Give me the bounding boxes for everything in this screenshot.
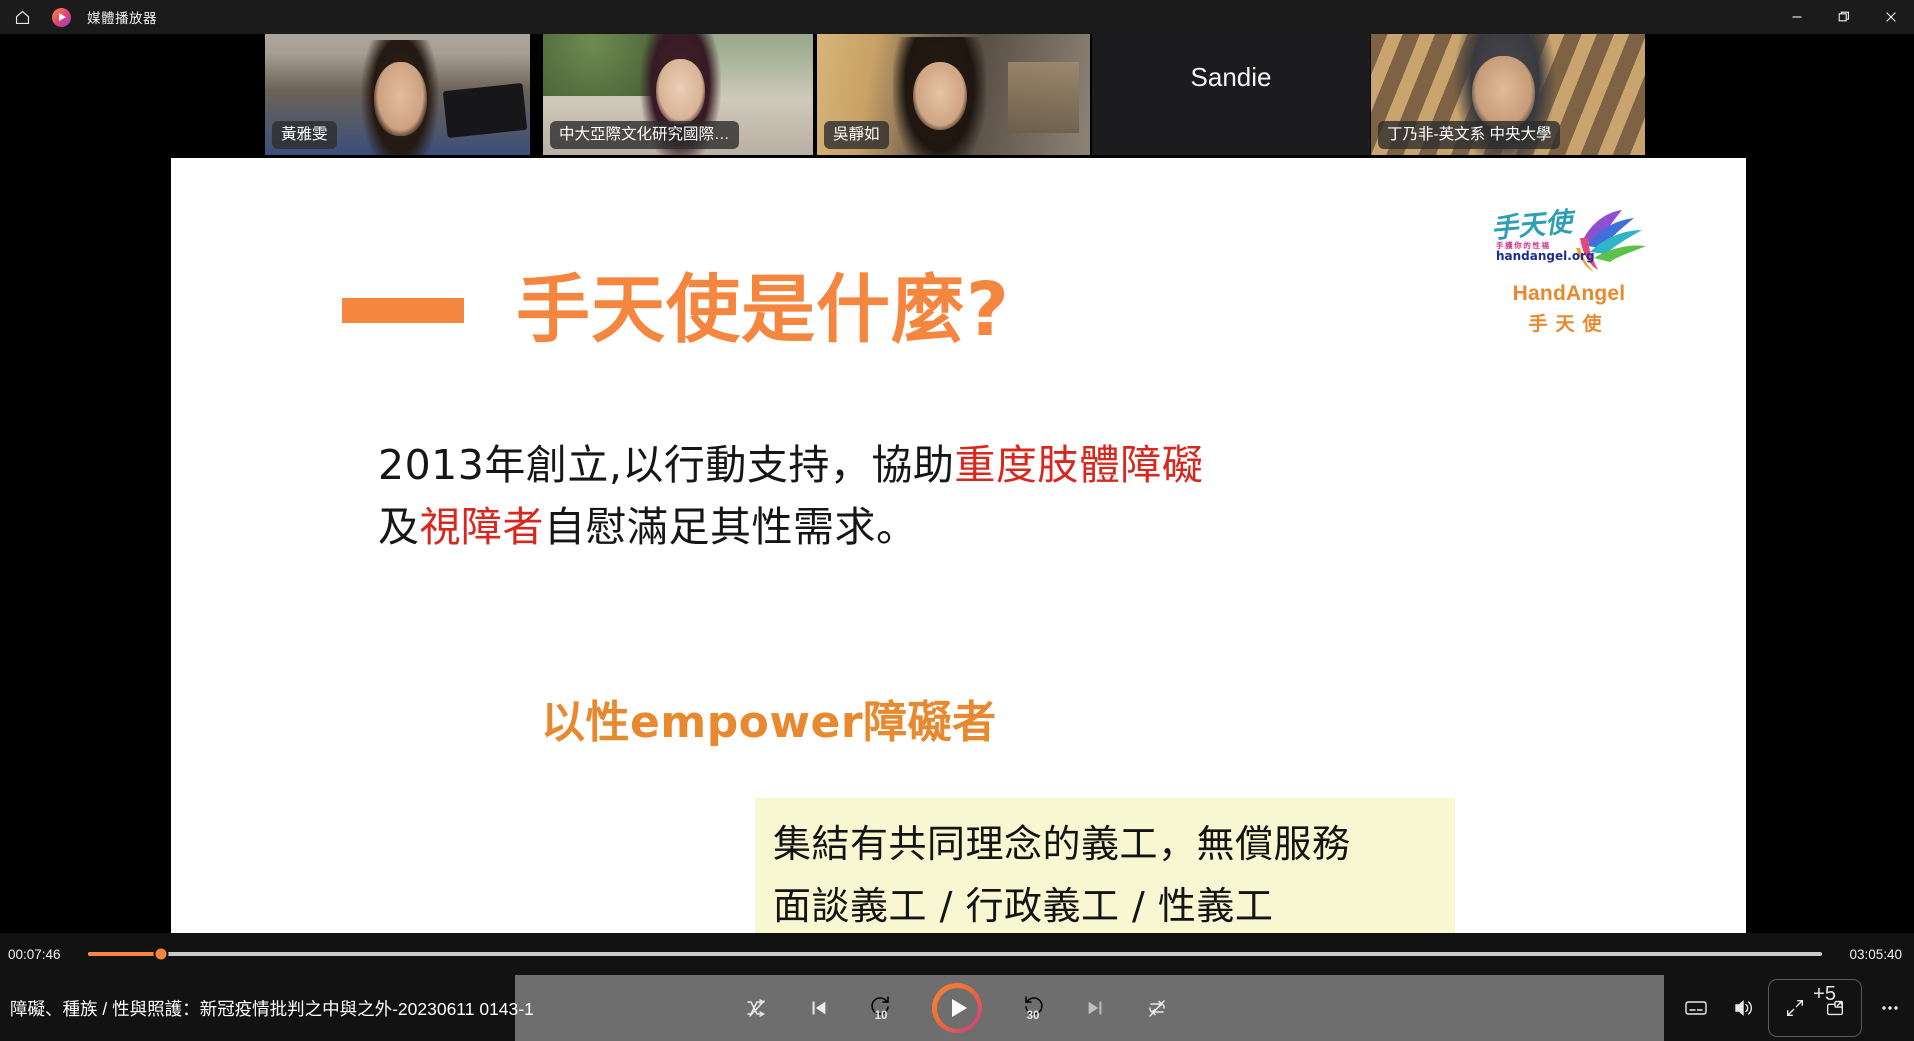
more-options-icon[interactable]: [1866, 975, 1914, 1041]
play-button[interactable]: [932, 983, 982, 1033]
volume-icon[interactable]: [1720, 975, 1768, 1041]
extra-participants-badge: +5: [1813, 983, 1836, 1006]
slide-title: 手天使是什麼?: [516, 273, 1010, 347]
forward-seconds-label: 30: [1027, 1010, 1040, 1022]
shuffle-off-icon[interactable]: [740, 991, 774, 1025]
participant-name-label: 黃雅雯: [272, 121, 337, 150]
total-time-label: 03:05:40: [1836, 947, 1902, 962]
wing-graphic-icon: 手天使 手護你的性福 handangel.org: [1484, 204, 1654, 276]
presentation-slide: 手天使 手護你的性福 handangel.org HandAngel 手天使 手…: [171, 158, 1746, 953]
body-line2-highlight: 視障者: [420, 503, 545, 551]
logo-calligraphy: 手天使: [1490, 207, 1578, 245]
body-line2-plain-b: 自慰滿足其性需求。: [544, 503, 918, 551]
forward-30-icon[interactable]: 30: [1016, 991, 1050, 1025]
previous-track-icon[interactable]: [802, 991, 836, 1025]
seek-thumb[interactable]: [153, 947, 168, 962]
participant-name-label: 吳靜如: [824, 121, 889, 150]
video-stage[interactable]: 手天使 手護你的性福 handangel.org HandAngel 手天使 手…: [0, 155, 1914, 1041]
close-button[interactable]: [1867, 0, 1914, 34]
body-line1-plain: 2013年創立,以行動支持，協助: [378, 441, 954, 489]
seek-progress-fill: [88, 952, 161, 956]
maximize-restore-button[interactable]: [1820, 0, 1867, 34]
view-mode-group: +5: [1768, 979, 1862, 1037]
participant-name-label: 丁乃非-英文系 中央大學: [1378, 121, 1560, 150]
repeat-off-icon[interactable]: [1140, 991, 1174, 1025]
body-line-1: 2013年創立,以行動支持，協助重度肢體障礙: [378, 434, 1558, 496]
playback-controls: 10 30: [740, 975, 1174, 1041]
now-playing-title-panel: 障礙、種族 / 性與照護：新冠疫情批判之中與之外-20230611 0143-1: [0, 975, 515, 1041]
captions-icon[interactable]: [1672, 975, 1720, 1041]
secondary-controls: +5: [1672, 975, 1914, 1041]
participant-name-label: Sandie: [1191, 62, 1272, 93]
play-icon: [937, 988, 978, 1029]
minimize-button[interactable]: [1773, 0, 1820, 34]
callout-line-2: 面談義工 / 行政義工 / 性義工: [773, 876, 1437, 938]
home-icon[interactable]: [0, 0, 44, 34]
rewind-10-icon[interactable]: 10: [864, 991, 898, 1025]
logo-url: handangel.org: [1496, 249, 1595, 263]
media-player-icon: [44, 0, 78, 34]
app-title: 媒體播放器: [87, 7, 157, 27]
rewind-seconds-label: 10: [875, 1010, 888, 1022]
body-line-2: 及視障者自慰滿足其性需求。: [378, 496, 1558, 558]
fullscreen-icon[interactable]: [1775, 975, 1815, 1041]
now-playing-title: 障礙、種族 / 性與照護：新冠疫情批判之中與之外-20230611 0143-1: [10, 996, 534, 1021]
body-line1-highlight: 重度肢體障礙: [954, 441, 1203, 489]
slide-empower-text: 以性empower障礙者: [541, 686, 997, 750]
callout-line-1: 集結有共同理念的義工，無償服務: [773, 814, 1437, 876]
media-player-window: 媒體播放器 黃雅雯 中大亞際文化研究國際…: [0, 0, 1914, 1041]
slide-callout-box: 集結有共同理念的義工，無償服務 面談義工 / 行政義工 / 性義工: [755, 798, 1455, 953]
body-line2-plain-a: 及: [378, 503, 420, 551]
title-accent-bar: [342, 298, 464, 323]
participant-name-label: 中大亞際文化研究國際…: [550, 121, 739, 150]
current-time-label: 00:07:46: [8, 947, 74, 962]
slide-body-text: 2013年創立,以行動支持，協助重度肢體障礙 及視障者自慰滿足其性需求。: [378, 434, 1558, 559]
seek-bar-row: 00:07:46 03:05:40: [0, 933, 1914, 975]
next-track-icon[interactable]: [1078, 991, 1112, 1025]
slide-title-row: 手天使是什麼?: [171, 273, 1746, 347]
logo-mark: 手天使 手護你的性福 handangel.org: [1484, 204, 1654, 276]
seek-slider[interactable]: [88, 952, 1822, 956]
title-bar: 媒體播放器: [0, 0, 1914, 34]
